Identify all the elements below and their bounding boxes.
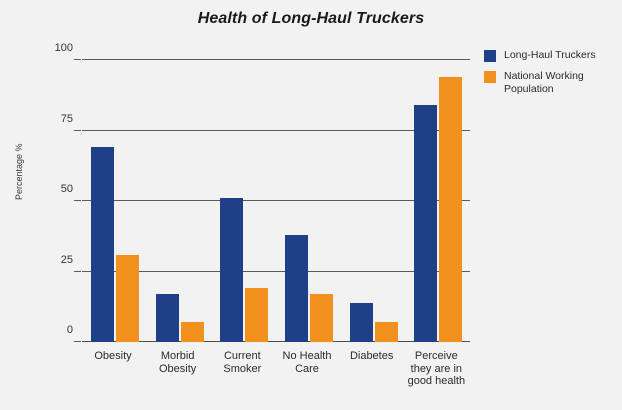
y-axis-tick-label: 0 bbox=[67, 324, 73, 336]
x-axis-tick-label: Morbid Obesity bbox=[146, 350, 210, 375]
chart-legend: Long-Haul TruckersNational Working Popul… bbox=[484, 49, 622, 103]
legend-item[interactable]: Long-Haul Truckers bbox=[484, 49, 622, 62]
legend-item[interactable]: National Working Population bbox=[484, 70, 622, 95]
legend-label: National Working Population bbox=[504, 70, 622, 95]
plot-area: 0255075100 ObesityMorbid ObesityCurrent … bbox=[82, 60, 470, 342]
y-axis-tick-label: 50 bbox=[61, 183, 73, 195]
bar-group bbox=[276, 60, 341, 342]
bar[interactable] bbox=[245, 288, 268, 342]
bar[interactable] bbox=[220, 198, 243, 342]
y-axis-tick-mark bbox=[74, 59, 81, 60]
legend-swatch-icon bbox=[484, 50, 496, 62]
y-axis-tick-label: 75 bbox=[61, 113, 73, 125]
bar-group bbox=[147, 60, 212, 342]
y-axis-tick-label: 100 bbox=[55, 42, 73, 54]
bar-group bbox=[405, 60, 470, 342]
bar[interactable] bbox=[285, 235, 308, 342]
legend-label: Long-Haul Truckers bbox=[504, 49, 596, 62]
legend-swatch-icon bbox=[484, 71, 496, 83]
chart-container: Health of Long-Haul Truckers Percentage … bbox=[0, 0, 622, 410]
y-axis-tick-mark bbox=[74, 341, 81, 342]
bar[interactable] bbox=[156, 294, 179, 342]
bar-group bbox=[82, 60, 147, 342]
x-axis-tick-label: Obesity bbox=[81, 350, 145, 363]
x-axis-tick-label: Perceive they are in good health bbox=[404, 350, 468, 388]
bar[interactable] bbox=[439, 77, 462, 342]
y-axis-tick-mark bbox=[74, 271, 81, 272]
y-axis-title: Percentage % bbox=[14, 143, 24, 200]
x-axis-tick-label: Current Smoker bbox=[210, 350, 274, 375]
y-axis-tick-label: 25 bbox=[61, 254, 73, 266]
bar[interactable] bbox=[181, 322, 204, 342]
x-axis-tick-label: No Health Care bbox=[275, 350, 339, 375]
bar[interactable] bbox=[310, 294, 333, 342]
y-axis-tick-mark bbox=[74, 130, 81, 131]
bar[interactable] bbox=[414, 105, 437, 342]
bar[interactable] bbox=[375, 322, 398, 342]
x-axis-tick-label: Diabetes bbox=[340, 350, 404, 363]
bar-group bbox=[341, 60, 406, 342]
chart-title: Health of Long-Haul Truckers bbox=[0, 10, 622, 28]
bar[interactable] bbox=[91, 147, 114, 342]
bar-group bbox=[211, 60, 276, 342]
bar[interactable] bbox=[350, 303, 373, 342]
y-axis-tick-mark bbox=[74, 200, 81, 201]
bar[interactable] bbox=[116, 255, 139, 342]
